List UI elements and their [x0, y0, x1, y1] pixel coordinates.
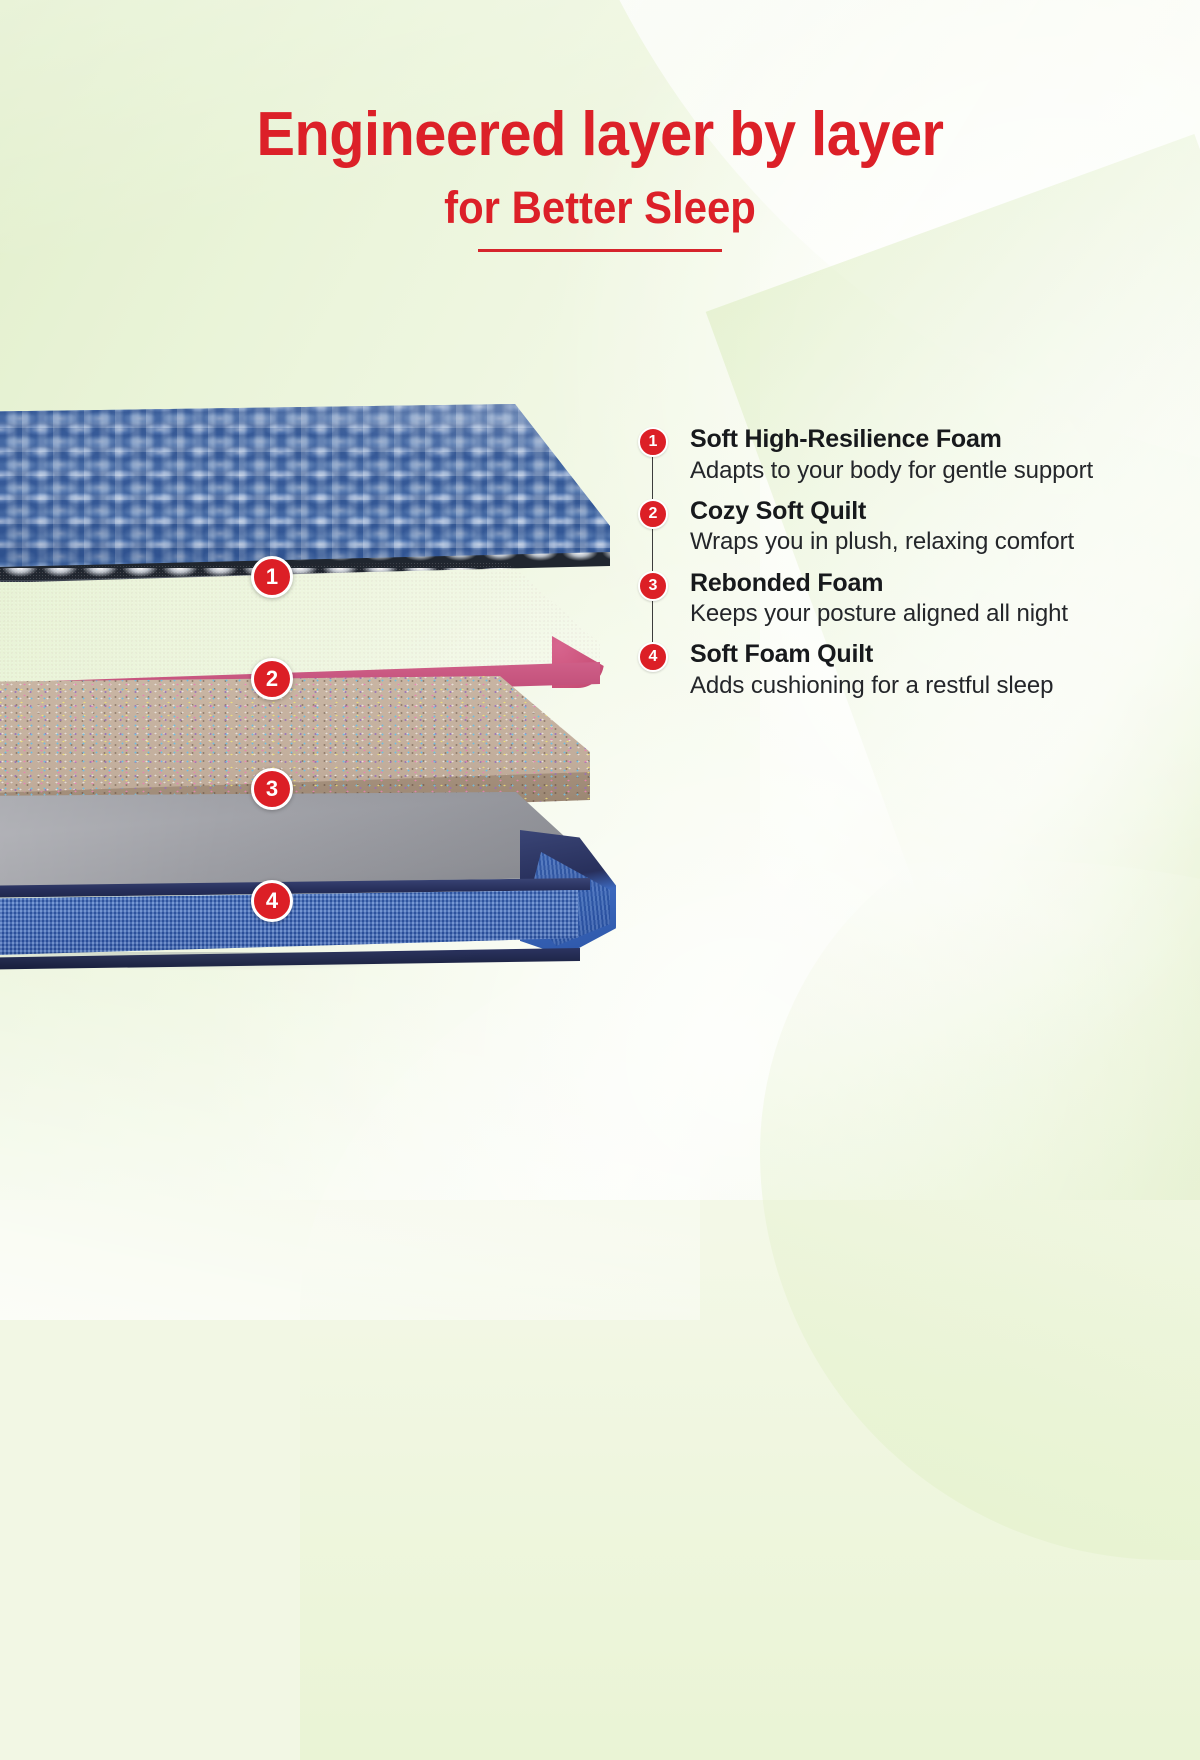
list-item-layer-2: 2 Cozy Soft Quilt Wraps you in plush, re…: [638, 496, 1168, 557]
diagram-badge-4-number: 4: [266, 888, 278, 914]
list-item-layer-3: 3 Rebonded Foam Keeps your posture align…: [638, 568, 1168, 629]
diagram-badge-1: 1: [251, 556, 293, 598]
page-title: Engineered layer by layer: [42, 104, 1158, 166]
diagram-badge-3: 3: [251, 768, 293, 810]
diagram-badge-2-number: 2: [266, 666, 278, 692]
list-item-4-title: Soft Foam Quilt: [690, 639, 1168, 670]
page-subtitle: for Better Sleep: [42, 185, 1158, 230]
list-badge-3-number: 3: [649, 577, 658, 595]
list-item-2-description: Wraps you in plush, relaxing comfort: [690, 527, 1156, 556]
diagram-badge-4: 4: [251, 880, 293, 922]
list-item-layer-4: 4 Soft Foam Quilt Adds cushioning for a …: [638, 639, 1168, 700]
mattress-layer-1-soft-high-resilience-foam: [0, 404, 610, 586]
list-badge-4-number: 4: [649, 648, 658, 666]
mattress-drop-shadow: [0, 952, 580, 978]
list-item-3-description: Keeps your posture aligned all night: [690, 599, 1156, 628]
list-item-4-description: Adds cushioning for a restful sleep: [690, 671, 1156, 700]
header: Engineered layer by layer for Better Sle…: [0, 104, 1200, 252]
list-item-1-title: Soft High-Resilience Foam: [690, 424, 1168, 455]
layer-feature-list: 1 Soft High-Resilience Foam Adapts to yo…: [638, 424, 1168, 700]
mattress-layer-diagram: 1 2 3 4: [0, 404, 650, 974]
connector-line-1: [652, 457, 653, 499]
list-badge-1-number: 1: [649, 433, 658, 451]
list-badge-3: 3: [638, 571, 668, 601]
title-underline: [478, 249, 722, 252]
list-badge-4: 4: [638, 642, 668, 672]
list-badge-2-number: 2: [649, 505, 658, 523]
list-item-1-description: Adapts to your body for gentle support: [690, 456, 1156, 485]
connector-line-2: [652, 529, 653, 571]
connector-line-3: [652, 601, 653, 643]
diagram-badge-2: 2: [251, 658, 293, 700]
mattress-layer-4-soft-foam-quilt: [0, 792, 615, 974]
list-item-2-title: Cozy Soft Quilt: [690, 496, 1168, 527]
diagram-badge-1-number: 1: [266, 564, 278, 590]
diagram-badge-3-number: 3: [266, 776, 278, 802]
list-badge-2: 2: [638, 499, 668, 529]
list-item-3-title: Rebonded Foam: [690, 568, 1168, 599]
list-item-layer-1: 1 Soft High-Resilience Foam Adapts to yo…: [638, 424, 1168, 485]
list-badge-1: 1: [638, 427, 668, 457]
